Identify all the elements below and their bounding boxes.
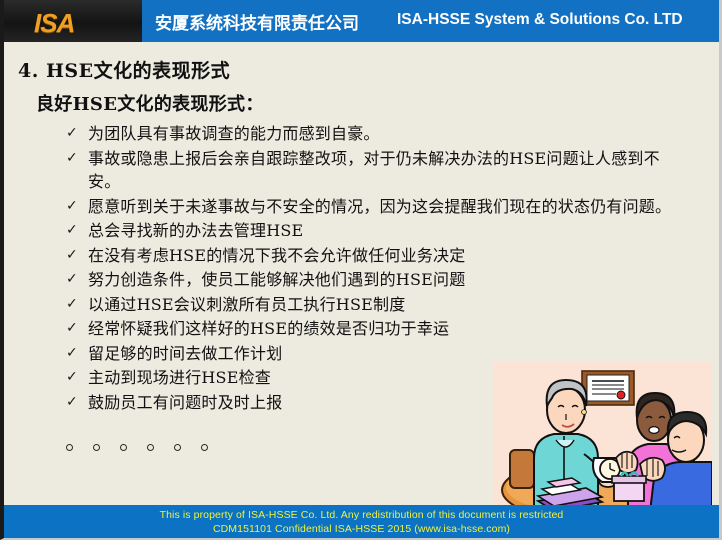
check-icon: ✓: [66, 244, 88, 268]
isa-logo: ISA: [34, 8, 74, 39]
company-name-en: ISA-HSSE System & Solutions Co. LTD: [397, 11, 683, 29]
list-item: ✓ 总会寻找新的办法去管理HSE: [66, 219, 676, 243]
list-item-label: 愿意听到关于未遂事故与不安全的情况，因为这会提醒我们现在的状态仍有问题。: [88, 195, 676, 219]
check-icon: ✓: [66, 147, 88, 171]
slide-canvas: ISA 安厦系统科技有限责任公司 ISA-HSSE System & Solut…: [0, 0, 722, 540]
empty-bullet-row: [66, 444, 208, 451]
slide-footer: This is property of ISA-HSSE Co. Ltd. An…: [4, 505, 719, 538]
list-item-label: 事故或隐患上报后会亲自跟踪整改项，对于仍未解决办法的HSE问题让人感到不安。: [88, 147, 676, 194]
check-icon: ✓: [66, 195, 88, 219]
check-icon: ✓: [66, 219, 88, 243]
company-name-cn: 安厦系统科技有限责任公司: [155, 9, 359, 34]
list-item: ✓ 经常怀疑我们这样好的HSE的绩效是否归功于幸运: [66, 317, 676, 341]
header-blue-bar: 安厦系统科技有限责任公司 ISA-HSSE System & Solutions…: [142, 0, 719, 42]
list-item: ✓ 在没有考虑HSE的情况下我不会允许做任何业务决定: [66, 244, 676, 268]
list-item-label: 为团队具有事故调查的能力而感到自豪。: [88, 122, 676, 146]
empty-bullet-dot-icon: [93, 444, 100, 451]
list-item: ✓ 努力创造条件，使员工能够解决他们遇到的HSE问题: [66, 268, 676, 292]
slide-title: 4. HSE文化的表现形式: [18, 56, 230, 83]
check-icon: ✓: [66, 268, 88, 292]
list-item-label: 以通过HSE会议刺激所有员工执行HSE制度: [88, 293, 676, 317]
list-item: ✓ 为团队具有事故调查的能力而感到自豪。: [66, 122, 676, 146]
check-icon: ✓: [66, 317, 88, 341]
list-item-label: 努力创造条件，使员工能够解决他们遇到的HSE问题: [88, 268, 676, 292]
slide-subtitle: 良好HSE文化的表现形式：: [36, 90, 264, 116]
list-item-label: 在没有考虑HSE的情况下我不会允许做任何业务决定: [88, 244, 676, 268]
empty-bullet-dot-icon: [120, 444, 127, 451]
footer-copyright-line: This is property of ISA-HSSE Co. Ltd. An…: [4, 509, 719, 521]
list-item: ✓ 以通过HSE会议刺激所有员工执行HSE制度: [66, 293, 676, 317]
slide-header: ISA 安厦系统科技有限责任公司 ISA-HSSE System & Solut…: [4, 0, 719, 42]
logo-zone: ISA: [4, 0, 142, 42]
award-ceremony-illustration: [494, 362, 712, 512]
check-icon: ✓: [66, 391, 88, 415]
list-item: ✓ 事故或隐患上报后会亲自跟踪整改项，对于仍未解决办法的HSE问题让人感到不安。: [66, 147, 676, 194]
empty-bullet-dot-icon: [66, 444, 73, 451]
check-icon: ✓: [66, 122, 88, 146]
list-item-label: 总会寻找新的办法去管理HSE: [88, 219, 676, 243]
footer-document-line: CDM151101 Confidential ISA-HSSE 2015 (ww…: [4, 523, 719, 535]
empty-bullet-dot-icon: [174, 444, 181, 451]
check-icon: ✓: [66, 366, 88, 390]
check-icon: ✓: [66, 342, 88, 366]
check-icon: ✓: [66, 293, 88, 317]
empty-bullet-dot-icon: [201, 444, 208, 451]
list-item-label: 经常怀疑我们这样好的HSE的绩效是否归功于幸运: [88, 317, 676, 341]
empty-bullet-dot-icon: [147, 444, 154, 451]
list-item: ✓ 愿意听到关于未遂事故与不安全的情况，因为这会提醒我们现在的状态仍有问题。: [66, 195, 676, 219]
